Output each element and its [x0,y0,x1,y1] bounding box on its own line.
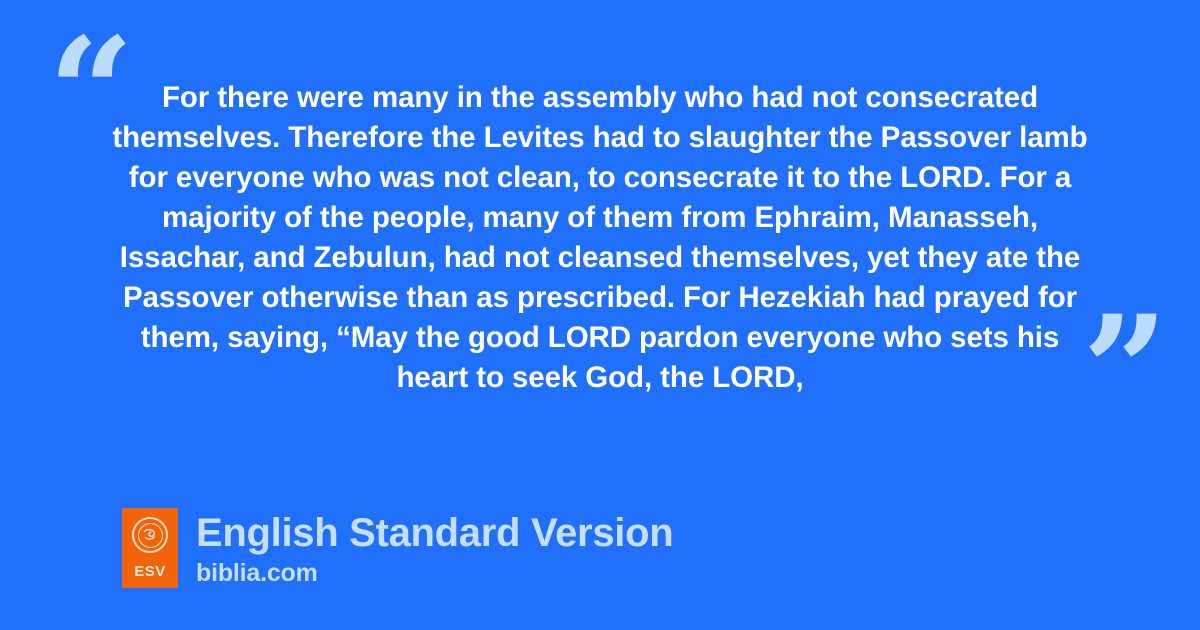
source-site-label: biblia.com [196,558,673,588]
esv-seal-emblem-icon [132,517,168,553]
esv-logo-badge: ESV [122,508,178,588]
attribution: ESV English Standard Version biblia.com [122,508,673,588]
attribution-text-group: English Standard Version biblia.com [196,508,673,588]
esv-logo-abbreviation: ESV [134,564,165,579]
quote-block: For there were many in the assembly who … [110,78,1090,398]
esv-seal-inner-ring-icon [138,523,163,548]
bible-verse-quote-card: “ For there were many in the assembly wh… [0,0,1200,630]
quote-text: For there were many in the assembly who … [110,78,1090,398]
closing-quotation-mark-icon: ” [1082,296,1168,446]
bible-version-title: English Standard Version [196,510,673,556]
